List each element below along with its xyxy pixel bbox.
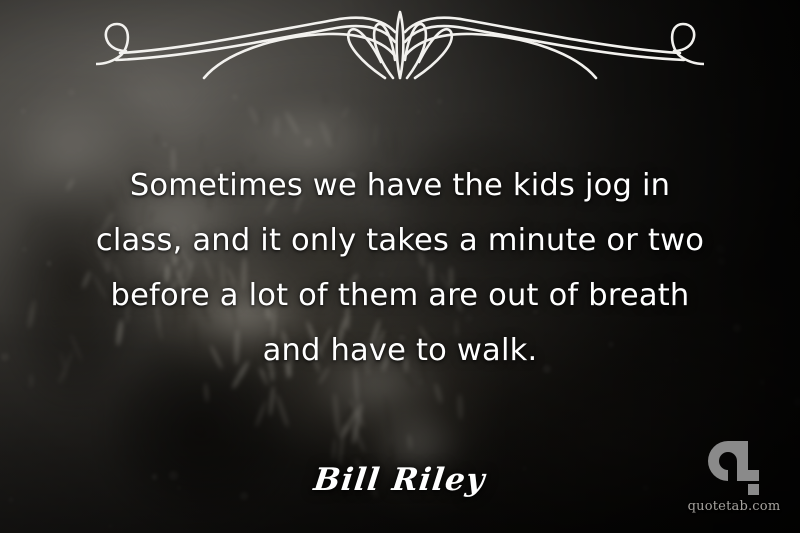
flourish-ornament-icon: [96, 8, 704, 80]
quote-text: Sometimes we have the kids jog in class,…: [48, 158, 752, 378]
quote-line: Sometimes we have the kids jog in: [48, 158, 752, 213]
quote-author: Bill Riley: [0, 462, 800, 498]
author-name: Bill Riley: [312, 462, 488, 498]
quote-line: before a lot of them are out of breath: [48, 268, 752, 323]
quotetab-logo[interactable]: quotetab.com: [682, 439, 786, 525]
quote-card: Sometimes we have the kids jog in class,…: [0, 0, 800, 533]
quote-line: and have to walk.: [48, 323, 752, 378]
quotetab-q-icon: [706, 439, 762, 497]
quotetab-wordmark: quotetab.com: [682, 499, 786, 514]
quote-line: class, and it only takes a minute or two: [48, 213, 752, 268]
